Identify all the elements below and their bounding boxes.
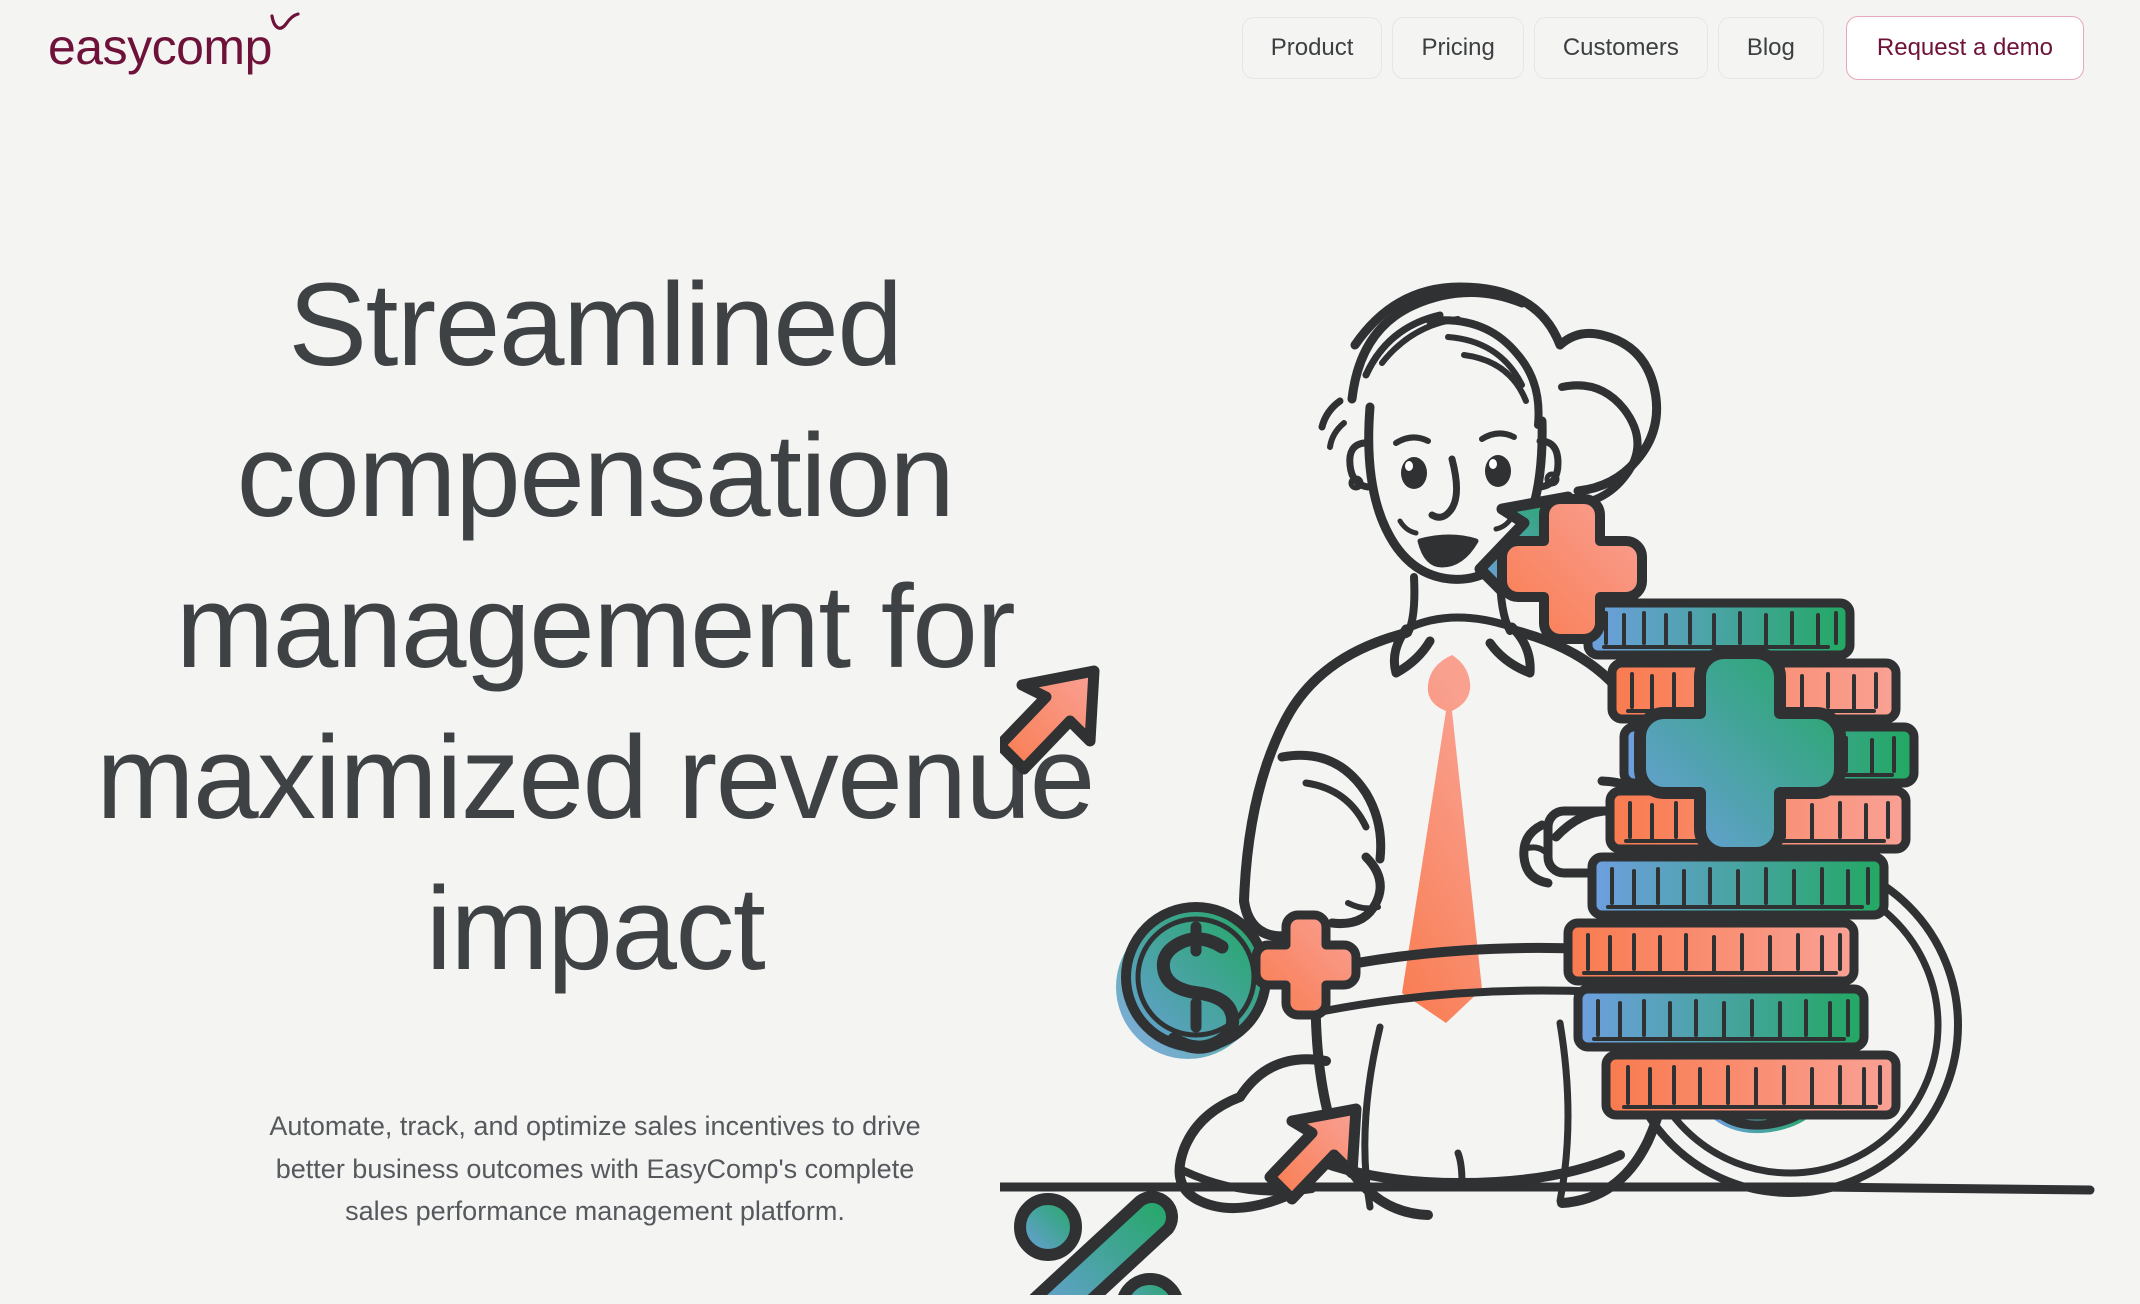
- arrow-up-right-orange-left: [1000, 671, 1094, 769]
- hero-section: Streamlined compensation management for …: [0, 95, 2140, 1304]
- logo-wordmark: easycomp: [48, 22, 272, 72]
- nav-link-customers[interactable]: Customers: [1534, 17, 1708, 79]
- nav-link-pricing[interactable]: Pricing: [1392, 17, 1523, 79]
- page-title: Streamlined compensation management for …: [60, 250, 1130, 1005]
- plus-orange-tiny: [1256, 915, 1356, 1015]
- woman-figure: [1180, 287, 1674, 1215]
- percent-symbol: [1020, 1197, 1178, 1295]
- brand-logo[interactable]: easycomp: [48, 16, 302, 80]
- site-header: easycomp Product Pricing Customers Blog …: [0, 0, 2140, 95]
- hero-illustration-woman-with-coin-stack: [1000, 185, 2120, 1295]
- nav-link-product[interactable]: Product: [1242, 17, 1383, 79]
- landing-page: easycomp Product Pricing Customers Blog …: [0, 0, 2140, 1304]
- main-navigation: Product Pricing Customers Blog Request a…: [1242, 16, 2084, 80]
- nav-link-blog[interactable]: Blog: [1718, 17, 1824, 79]
- swoosh-check-icon: [268, 8, 302, 42]
- hero-copy-block: Streamlined compensation management for …: [60, 250, 1130, 1233]
- dollar-coin-small: [1116, 907, 1268, 1059]
- request-demo-button[interactable]: Request a demo: [1846, 16, 2084, 80]
- hero-subtitle: Automate, track, and optimize sales ince…: [60, 1105, 1130, 1233]
